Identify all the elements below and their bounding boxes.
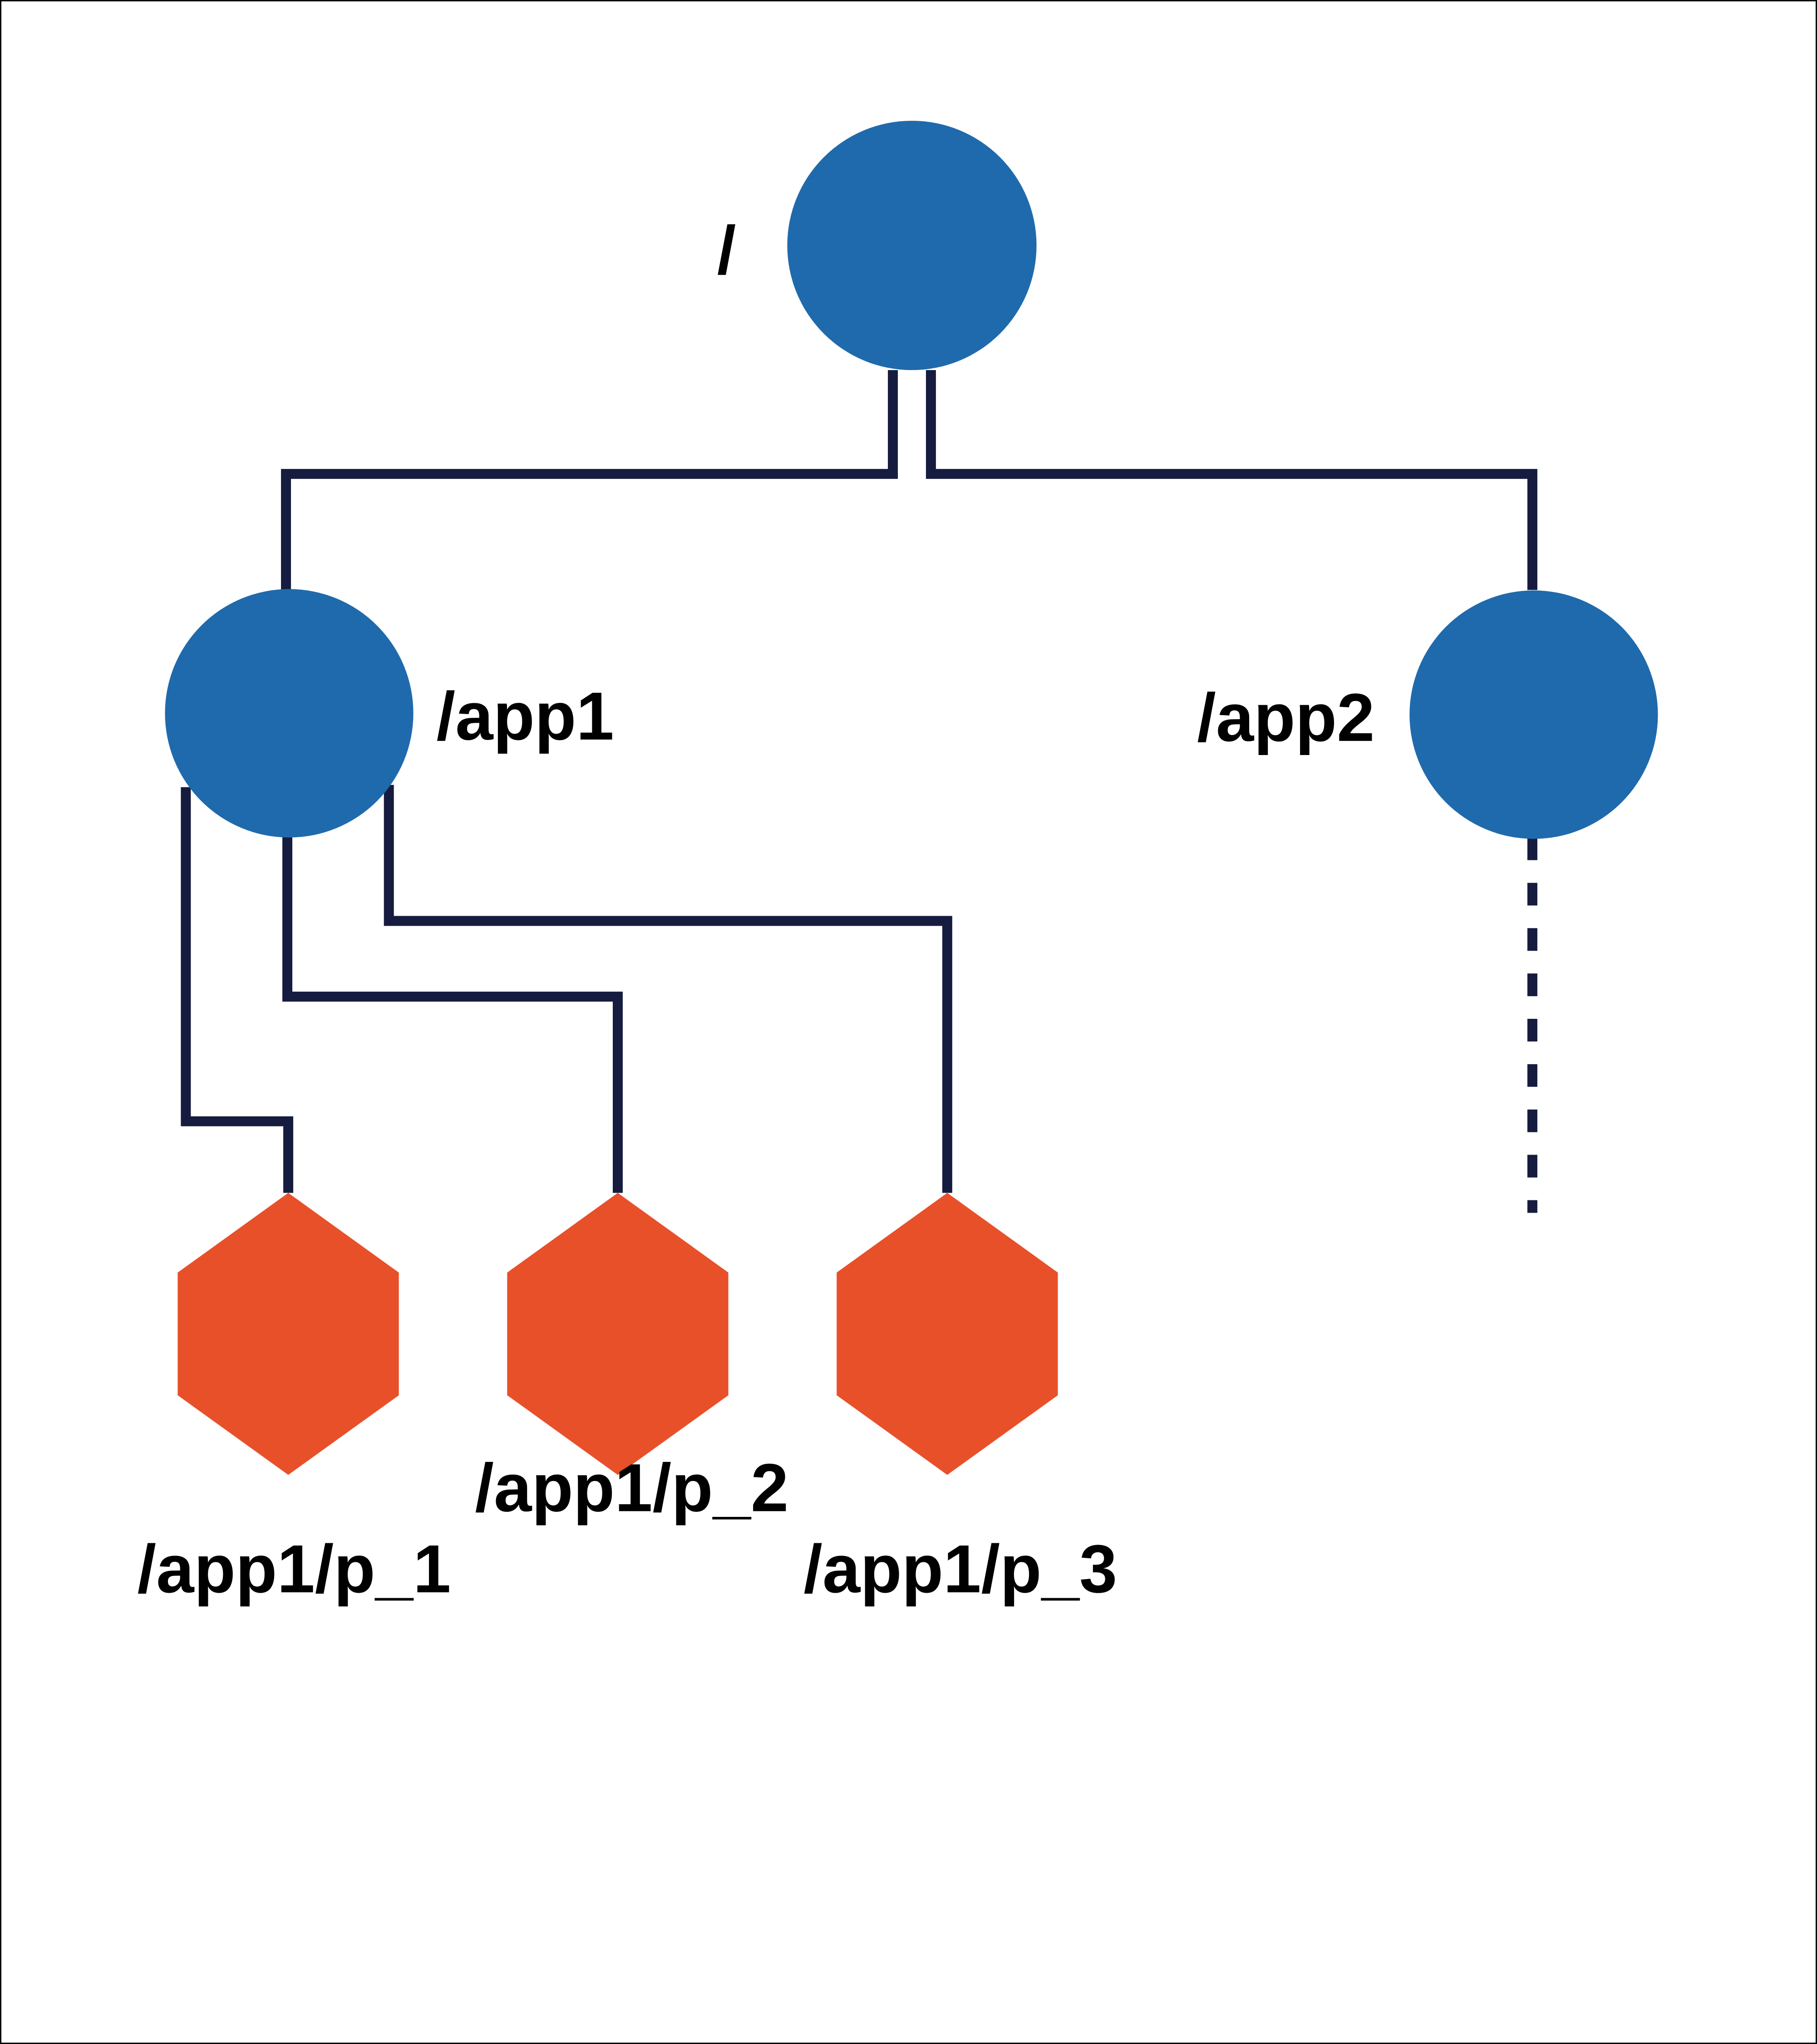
edge-app1-p3 <box>389 785 947 1193</box>
node-label-p2: /app1/p_2 <box>475 1449 788 1526</box>
node-label-app1: /app1 <box>437 678 614 754</box>
tree-diagram: //app1/app2/app1/p_1/app1/p_2/app1/p_3 <box>1 1 1816 2043</box>
node-p2[interactable] <box>507 1193 728 1475</box>
edge-root-app1 <box>286 370 893 590</box>
edges-layer <box>186 370 1532 1213</box>
node-label-app2: /app2 <box>1197 679 1374 755</box>
node-p1[interactable] <box>177 1193 399 1475</box>
edge-app1-p2 <box>287 830 618 1193</box>
edge-app1-p1 <box>186 787 288 1193</box>
node-label-root: / <box>717 212 736 288</box>
node-p3[interactable] <box>837 1193 1058 1475</box>
edge-root-app2 <box>931 370 1532 590</box>
node-root[interactable] <box>787 121 1036 370</box>
node-label-p1: /app1/p_1 <box>138 1531 451 1607</box>
node-app2[interactable] <box>1409 590 1658 839</box>
diagram-canvas: //app1/app2/app1/p_1/app1/p_2/app1/p_3 <box>0 0 1817 2044</box>
node-app1[interactable] <box>165 589 413 837</box>
node-label-p3: /app1/p_3 <box>803 1531 1117 1607</box>
